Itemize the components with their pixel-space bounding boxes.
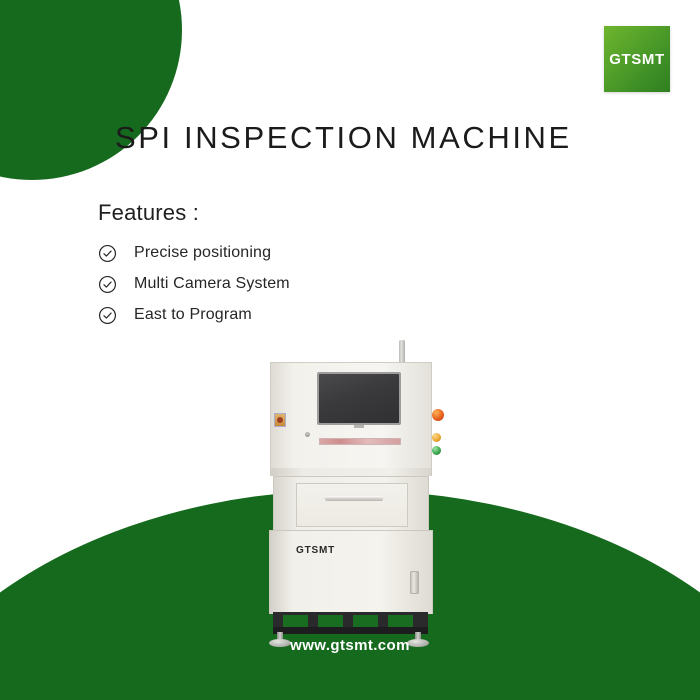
feature-label: East to Program <box>134 306 252 324</box>
page-title: SPI INSPECTION MACHINE <box>115 120 572 156</box>
status-lamp-green <box>432 446 441 455</box>
feature-item: Multi Camera System <box>98 269 290 299</box>
emergency-stop-button <box>274 413 286 427</box>
machine-brand-label: GTSMT <box>296 545 335 556</box>
gtsmt-logo: GTSMT <box>604 26 670 92</box>
product-poster: GTSMT SPI INSPECTION MACHINE Features : … <box>0 0 700 700</box>
machine-drawer-panel <box>273 476 429 533</box>
monitor-screen <box>319 374 399 423</box>
base-frame-gap <box>353 615 378 627</box>
machine-upper-body <box>270 362 432 469</box>
logo-text: GTSMT <box>609 51 665 68</box>
check-circle-icon <box>98 244 117 263</box>
machine-monitor <box>317 372 401 425</box>
features-heading: Features : <box>98 200 290 226</box>
spi-inspection-machine-photo: GTSMT <box>255 340 445 620</box>
drawer-inner-panel <box>296 483 408 527</box>
machine-lower-cabinet: GTSMT <box>269 530 433 614</box>
conveyor-slot <box>319 438 401 445</box>
features-section: Features : Precise positioning Multi Cam… <box>98 200 290 331</box>
machine-base-frame <box>273 612 428 634</box>
monitor-stand <box>354 425 364 428</box>
website-url[interactable]: www.gtsmt.com <box>0 637 700 654</box>
check-circle-icon <box>98 306 117 325</box>
cabinet-door-latch <box>410 571 419 594</box>
feature-label: Precise positioning <box>134 244 271 262</box>
feature-label: Multi Camera System <box>134 275 290 293</box>
drawer-handle <box>325 496 383 501</box>
base-frame-gap <box>283 615 308 627</box>
base-frame-gap <box>318 615 343 627</box>
check-circle-icon <box>98 275 117 294</box>
status-lamp-amber <box>432 433 441 442</box>
control-knob <box>305 432 310 437</box>
base-frame-gap <box>388 615 413 627</box>
machine-mid-band <box>270 468 432 476</box>
feature-item: Precise positioning <box>98 238 290 268</box>
status-lamp-red <box>432 409 444 421</box>
feature-item: East to Program <box>98 300 290 330</box>
